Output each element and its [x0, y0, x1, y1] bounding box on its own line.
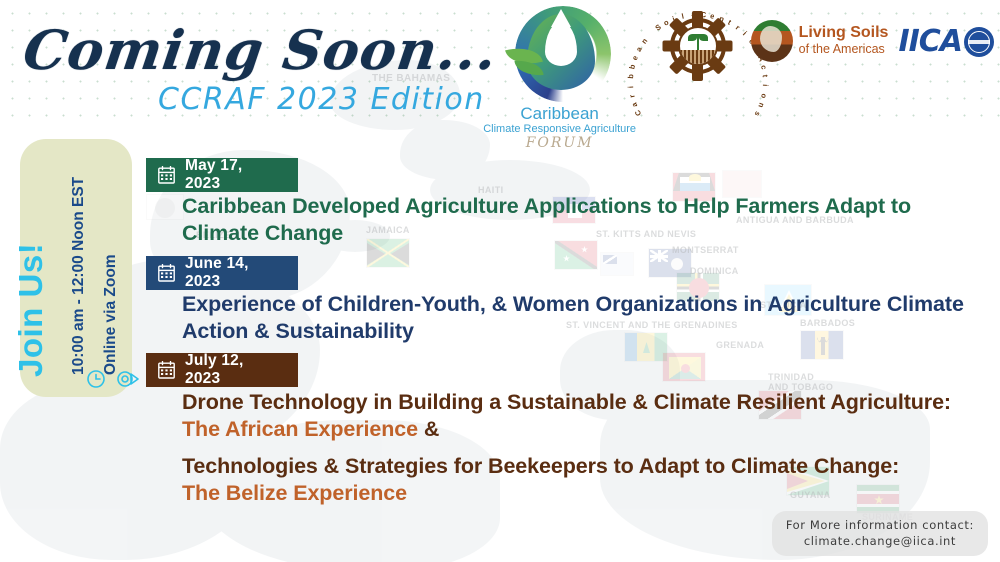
living-soils-line-2: of the Americas [799, 42, 889, 56]
session-subtitle-4: The Belize Experience [182, 480, 982, 507]
contact-email[interactable]: climate.change@iica.int [786, 533, 974, 549]
living-soils-line-1: Living Soils [799, 25, 889, 42]
country-label: DOMINICA [690, 266, 739, 276]
event-time: 10:00 am - 12:00 Noon EST [70, 177, 88, 375]
ccraf-line-2: Climate Responsive Agriculture [475, 123, 645, 136]
session-title-2: Experience of Children-Youth, & Women Or… [182, 291, 982, 345]
gear-icon: Caribbean Soil-Centric Actions [662, 10, 734, 82]
country-label: TRINIDAD [768, 372, 814, 382]
caribbean-soil-centric-actions-logo: Caribbean Soil-Centric Actions [655, 10, 741, 82]
edition-subtitle: CCRAF 2023 Edition [158, 82, 485, 117]
contact-box: For More information contact: climate.ch… [772, 511, 988, 556]
calendar-icon [158, 264, 175, 282]
poster-canvas: THE BAHAMAS HAITI BELIZE JAMAICA ST. KIT… [0, 0, 1000, 562]
ccraf-line-3: FORUM [475, 135, 645, 151]
contact-line-1: For More information contact: [786, 517, 974, 533]
session-title-4: Technologies & Strategies for Beekeepers… [182, 453, 982, 507]
join-us-label: Join Us! [12, 243, 50, 377]
join-us-panel: Join Us! 10:00 am - 12:00 Noon EST Onlin… [20, 139, 132, 397]
session-date-3: July 12, 2023 [185, 352, 280, 388]
session-subtitle-3-text: The African Experience [182, 417, 418, 441]
logo-bar: Caribbean Climate Responsive Agriculture… [475, 4, 994, 151]
event-platform: Online via Zoom [102, 254, 120, 375]
globe-icon [751, 20, 793, 62]
session-title-4-main: Technologies & Strategies for Beekeepers… [182, 454, 899, 478]
session-trailing-amp: & [424, 417, 439, 441]
calendar-icon [158, 166, 175, 184]
iica-wordmark: IICA [898, 24, 962, 59]
video-camera-icon [116, 369, 140, 389]
clock-icon [86, 369, 106, 389]
ccraf-logo: Caribbean Climate Responsive Agriculture… [475, 4, 645, 151]
session-title-1: Caribbean Developed Agriculture Applicat… [182, 193, 982, 247]
page-title: Coming Soon... [20, 18, 502, 82]
ccraf-mark-icon [505, 4, 615, 109]
flag-grenada [662, 352, 706, 382]
session-date-2: June 14, 2023 [185, 255, 280, 291]
flag-anguilla [600, 252, 634, 276]
calendar-icon [158, 361, 175, 379]
session-date-1: May 17, 2023 [185, 157, 280, 193]
session-subtitle-3: The African Experience & [182, 416, 982, 443]
session-title-3: Drone Technology in Building a Sustainab… [182, 389, 982, 443]
session-date-badge-1: May 17, 2023 [146, 158, 298, 192]
iica-logo: IICA [898, 24, 994, 59]
flag-dominican-republic [146, 194, 184, 220]
living-soils-logo: Living Soils of the Americas [751, 20, 889, 62]
iica-globe-icon [964, 27, 994, 57]
session-date-badge-2: June 14, 2023 [146, 256, 298, 290]
session-date-badge-3: July 12, 2023 [146, 353, 298, 387]
session-title-3-main: Drone Technology in Building a Sustainab… [182, 390, 951, 414]
